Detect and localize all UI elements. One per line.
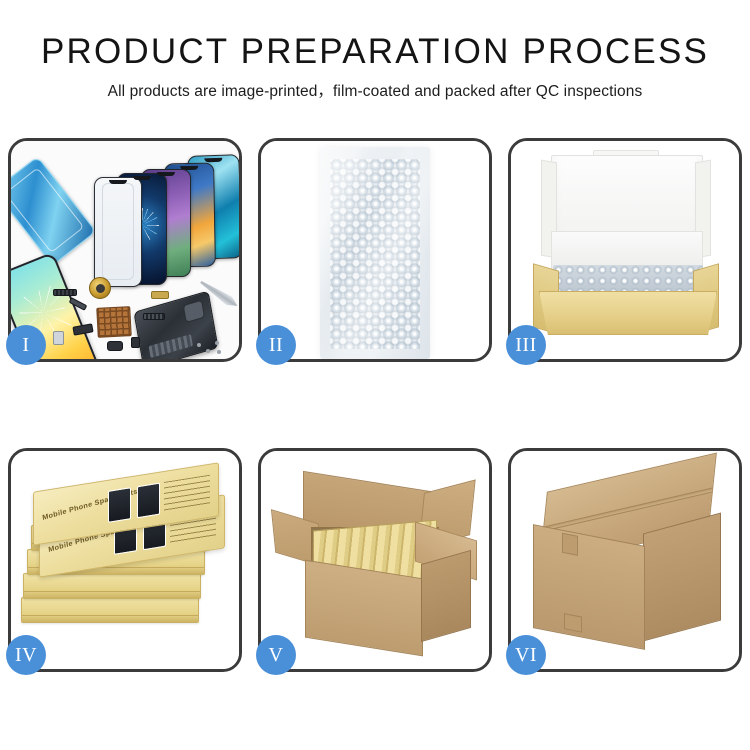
phone-display-fan bbox=[89, 153, 239, 303]
gold-connector-part-icon bbox=[151, 291, 169, 299]
carton-front-wall bbox=[533, 524, 645, 650]
sealed-carton-icon bbox=[529, 471, 725, 655]
battery-part-icon bbox=[53, 331, 64, 345]
step-5-image bbox=[261, 451, 489, 669]
step-badge-1: I bbox=[6, 325, 46, 365]
step-2-image bbox=[261, 141, 489, 359]
step-badge-2: II bbox=[256, 325, 296, 365]
step-badge-6: VI bbox=[506, 635, 546, 675]
step-3-image bbox=[511, 141, 739, 359]
step-badge-3: III bbox=[506, 325, 546, 365]
box-phone-artwork bbox=[108, 487, 131, 523]
step-badge-4: IV bbox=[6, 635, 46, 675]
open-carton-icon bbox=[275, 473, 475, 655]
carton-tape-mark bbox=[562, 533, 578, 556]
step-1-image bbox=[11, 141, 239, 359]
bubble-wrap-package-icon bbox=[320, 147, 430, 359]
retail-box bbox=[23, 573, 201, 599]
process-step-panel-2: II bbox=[258, 138, 492, 362]
small-part-icon bbox=[107, 341, 123, 351]
flex-cable-part-icon bbox=[53, 289, 77, 296]
ribbon-cable-part-icon bbox=[143, 313, 165, 320]
screws-icon bbox=[197, 341, 223, 355]
box-front-wall bbox=[539, 291, 717, 335]
speaker-ring-part-icon bbox=[89, 277, 111, 299]
carton-side-wall bbox=[421, 550, 471, 642]
open-inner-box-icon bbox=[533, 155, 719, 345]
process-steps-grid: I II III bbox=[8, 138, 742, 738]
process-step-panel-4: Mobile Phone Spare Parts Mobile Phone Sp… bbox=[8, 448, 242, 672]
step-4-image: Mobile Phone Spare Parts Mobile Phone Sp… bbox=[11, 451, 239, 669]
page-subtitle: All products are image-printed，film-coat… bbox=[0, 81, 750, 103]
box-phone-artwork bbox=[137, 483, 160, 519]
logic-board-mesh-part-icon bbox=[96, 306, 132, 338]
page-title: PRODUCT PREPARATION PROCESS bbox=[0, 30, 750, 74]
carton-tape-mark bbox=[564, 613, 582, 632]
page-header: PRODUCT PREPARATION PROCESS All products… bbox=[0, 0, 750, 103]
process-step-panel-5: V bbox=[258, 448, 492, 672]
box-spec-lines bbox=[164, 475, 210, 514]
process-step-panel-1: I bbox=[8, 138, 242, 362]
step-6-image bbox=[511, 451, 739, 669]
screen-protector-film-icon bbox=[11, 156, 97, 266]
small-part-icon bbox=[131, 337, 140, 348]
carton-side-wall bbox=[643, 513, 721, 642]
plastic-sheen bbox=[320, 147, 430, 359]
retail-box bbox=[21, 597, 199, 623]
phone-display-blank-icon bbox=[94, 177, 142, 287]
process-step-panel-3: III bbox=[508, 138, 742, 362]
stacked-retail-boxes-icon: Mobile Phone Spare Parts Mobile Phone Sp… bbox=[17, 469, 233, 659]
small-part-icon bbox=[72, 323, 93, 335]
process-step-panel-6: VI bbox=[508, 448, 742, 672]
step-badge-5: V bbox=[256, 635, 296, 675]
